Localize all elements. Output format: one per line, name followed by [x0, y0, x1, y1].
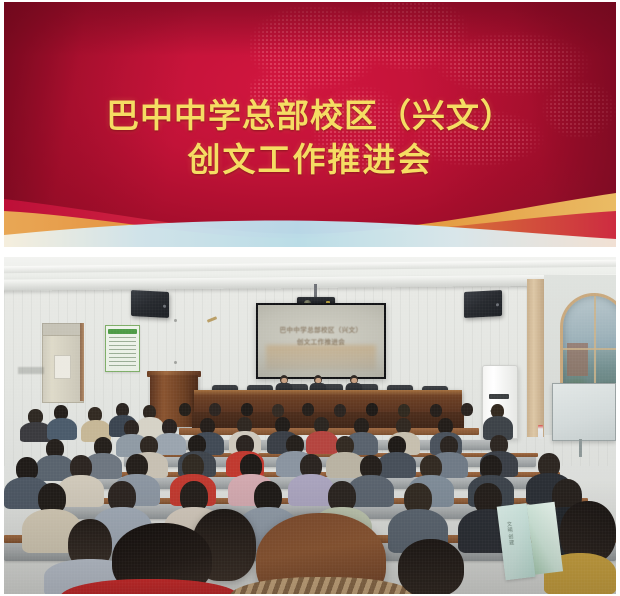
wall-sign [18, 367, 44, 374]
audience-body [47, 418, 77, 440]
projection-screen-text: 巴中中学总部校区（兴文） 创文工作推进会 [258, 324, 384, 349]
audience-head [272, 404, 284, 417]
audience-head [209, 403, 221, 416]
wall-fixture-a [174, 319, 177, 322]
audience-body [154, 433, 186, 455]
speaker-left-icon [131, 290, 169, 318]
audience-head [398, 404, 410, 417]
screen-text-line-2: 创文工作推进会 [258, 336, 384, 348]
audience-head [334, 404, 346, 417]
screen-text-line-1: 巴中中学总部校区（兴文） [258, 324, 384, 336]
air-conditioner-vent [489, 394, 509, 399]
meeting-hall-photo: 巴中中学总部校区（兴文） 创文工作推进会 [4, 257, 616, 594]
image-divider [0, 247, 620, 257]
wall-poster [105, 325, 140, 372]
audience-body [306, 431, 338, 454]
poster-page: 巴中中学总部校区（兴文） 创文工作推进会 [0, 0, 620, 596]
audience-body [326, 452, 364, 478]
speaker-right-icon [464, 290, 502, 318]
audience-head-foreground [398, 539, 464, 594]
whiteboard [552, 383, 616, 441]
whiteboard-leg [579, 439, 582, 457]
audience-head [241, 403, 253, 416]
banner-title-line-2: 创文工作推进会 [4, 138, 616, 182]
banner-title-line-1: 巴中中学总部校区（兴文） [4, 94, 616, 138]
banner-title-block: 巴中中学总部校区（兴文） 创文工作推进会 [4, 94, 616, 181]
projector-mount [314, 284, 317, 298]
window-mullion-horizontal [563, 348, 616, 350]
booklet: 文明创建 [497, 500, 564, 581]
water-bottle [538, 425, 543, 439]
poster-text-lines [109, 337, 136, 368]
conference-backdrop-banner: 巴中中学总部校区（兴文） 创文工作推进会 [4, 2, 616, 247]
door-frame-edge [80, 323, 84, 401]
audience-head [461, 403, 473, 416]
audience-head [179, 403, 191, 416]
audience-head [302, 403, 314, 416]
audience-body [288, 474, 334, 506]
audience-body [378, 452, 416, 478]
audience-head [366, 403, 378, 416]
door-notice [54, 355, 71, 379]
projection-screen-glow [266, 345, 377, 369]
projection-screen: 巴中中学总部校区（兴文） 创文工作推进会 [256, 303, 386, 379]
banner-wave-decoration [4, 177, 616, 247]
wall-pillar [527, 279, 544, 437]
poster-header-bar [108, 329, 137, 334]
wall-fixture-b [174, 361, 177, 364]
audience-head [430, 404, 442, 417]
